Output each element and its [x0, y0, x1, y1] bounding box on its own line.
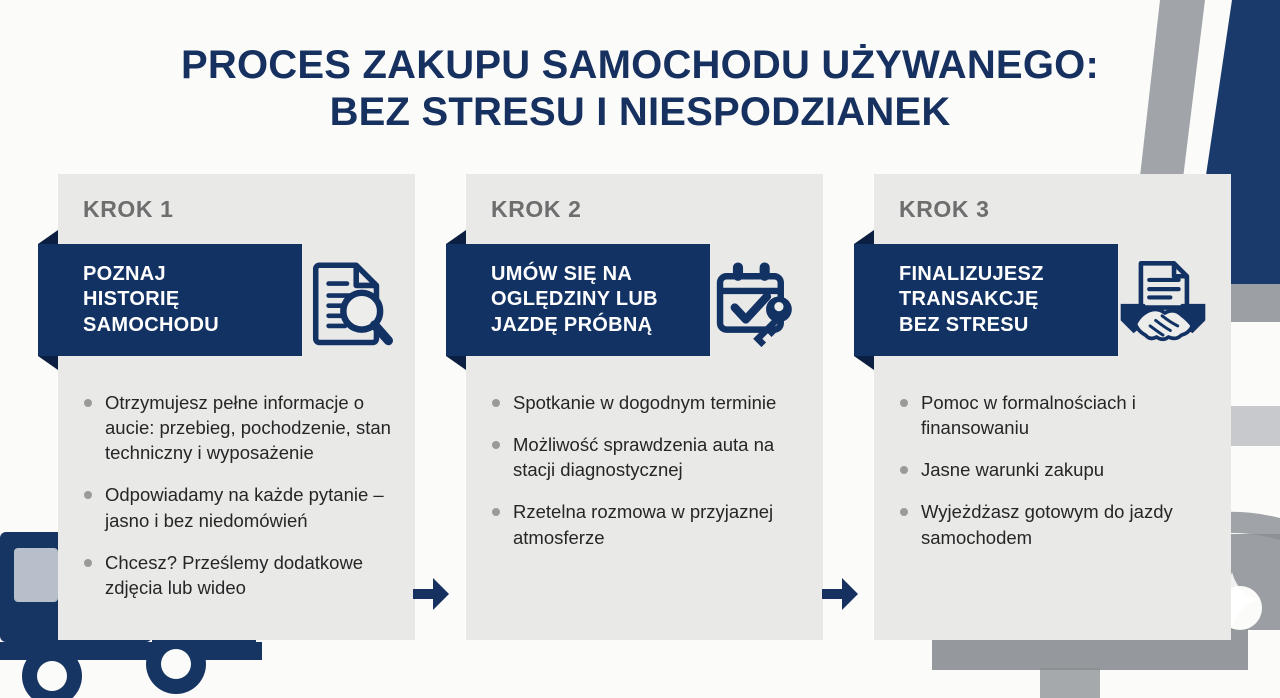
list-item: Chcesz? Prześlemy dodatkowe zdjęcia lub … [80, 550, 399, 600]
banner-line: BEZ STRESU [899, 313, 1044, 338]
handshake-document-icon [1117, 256, 1209, 348]
step-banner-1: POZNAJ HISTORIĘ SAMOCHODU [38, 244, 302, 356]
calendar-key-icon [709, 256, 801, 348]
banner-line: POZNAJ [83, 262, 219, 287]
step-banner-2: UMÓW SIĘ NA OGLĘDZINY LUB JAZDĘ PRÓBNĄ [446, 244, 710, 356]
steps-container: KROK 1 POZNAJ HISTORIĘ SAMOCHODU [0, 174, 1280, 654]
title-line-2: BEZ STRESU I NIESPODZIANEK [0, 89, 1280, 136]
banner-line: TRANSAKCJĘ [899, 287, 1044, 312]
step-bullets-2: Spotkanie w dogodnym terminie Możliwość … [488, 390, 807, 567]
list-item: Pomoc w formalnościach i finansowaniu [896, 390, 1215, 440]
list-item: Otrzymujesz pełne informacje o aucie: pr… [80, 390, 399, 465]
step-card-2: KROK 2 UMÓW SIĘ NA OGLĘDZINY LUB JAZDĘ P… [466, 174, 823, 640]
banner-line: HISTORIĘ [83, 287, 219, 312]
step-banner-text-1: POZNAJ HISTORIĘ SAMOCHODU [83, 262, 219, 338]
list-item: Spotkanie w dogodnym terminie [488, 390, 807, 415]
step-label-3: KROK 3 [899, 196, 990, 223]
list-item: Rzetelna rozmowa w przyjaznej atmosferze [488, 499, 807, 549]
step-card-1: KROK 1 POZNAJ HISTORIĘ SAMOCHODU [58, 174, 415, 640]
infographic-canvas: PROCES ZAKUPU SAMOCHODU UŻYWANEGO: BEZ S… [0, 0, 1280, 698]
arrow-right-icon-2 [818, 572, 862, 616]
step-label-2: KROK 2 [491, 196, 582, 223]
document-magnifier-icon [301, 256, 393, 348]
banner-line: OGLĘDZINY LUB [491, 287, 658, 312]
step-banner-text-2: UMÓW SIĘ NA OGLĘDZINY LUB JAZDĘ PRÓBNĄ [491, 262, 658, 338]
step-banner-text-3: FINALIZUJESZ TRANSAKCJĘ BEZ STRESU [899, 262, 1044, 338]
list-item: Odpowiadamy na każde pytanie – jasno i b… [80, 482, 399, 532]
list-item: Jasne warunki zakupu [896, 457, 1215, 482]
banner-line: JAZDĘ PRÓBNĄ [491, 313, 658, 338]
banner-line: UMÓW SIĘ NA [491, 262, 658, 287]
arrow-right-icon-1 [409, 572, 453, 616]
banner-line: FINALIZUJESZ [899, 262, 1044, 287]
step-bullets-1: Otrzymujesz pełne informacje o aucie: pr… [80, 390, 399, 617]
page-title: PROCES ZAKUPU SAMOCHODU UŻYWANEGO: BEZ S… [0, 42, 1280, 136]
list-item: Możliwość sprawdzenia auta na stacji dia… [488, 432, 807, 482]
banner-line: SAMOCHODU [83, 313, 219, 338]
title-line-1: PROCES ZAKUPU SAMOCHODU UŻYWANEGO: [0, 42, 1280, 89]
step-card-3: KROK 3 FINALIZUJESZ TRANSAKCJĘ BEZ STRES… [874, 174, 1231, 640]
list-item: Wyjeżdżasz gotowym do jazdy samochodem [896, 499, 1215, 549]
step-banner-3: FINALIZUJESZ TRANSAKCJĘ BEZ STRESU [854, 244, 1118, 356]
step-label-1: KROK 1 [83, 196, 174, 223]
step-bullets-3: Pomoc w formalnościach i finansowaniu Ja… [896, 390, 1215, 567]
